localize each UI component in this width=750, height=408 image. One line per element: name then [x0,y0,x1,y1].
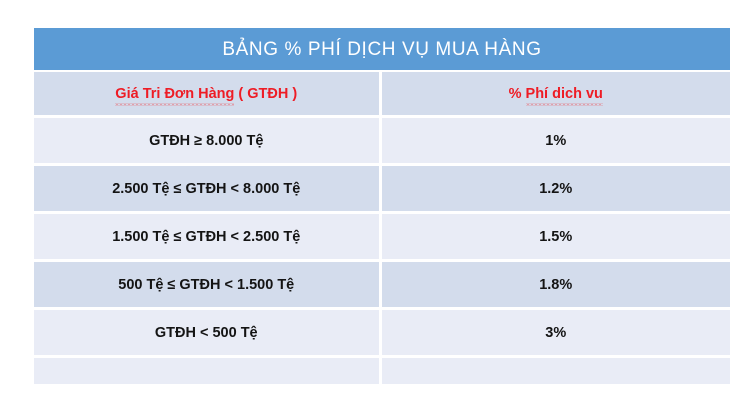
column-header-fee-percent: % Phí dich vu [380,72,730,117]
cell-fee-percent: 3% [380,309,730,357]
cell-fee-percent: 1.5% [380,213,730,261]
cell-order-range: GTĐH < 500 Tệ [34,309,380,357]
cell-order-range: 2.500 Tệ ≤ GTĐH < 8.000 Tệ [34,165,380,213]
table-footer-spacer-row [34,357,730,385]
column-header-fee-percent-text: Phí dich vu [526,86,603,102]
order-range-value: 2.500 Tệ ≤ GTĐH < 8.000 Tệ [112,181,300,197]
table-row: 1.500 Tệ ≤ GTĐH < 2.500 Tệ 1.5% [34,213,730,261]
column-header-fee-percent-label: % Phí dich vu [509,86,603,102]
fee-percent-value: 1.8% [539,277,572,293]
order-range-value: GTĐH ≥ 8.000 Tệ [149,133,263,149]
order-range-value: 1.500 Tệ ≤ GTĐH < 2.500 Tệ [112,229,300,245]
column-header-order-value-text: Giá Tri Đơn Hàng [115,86,234,102]
cell-spacer-left [34,357,380,385]
cell-fee-percent: 1.8% [380,261,730,309]
fee-percent-value: 1.5% [539,229,572,245]
slide-canvas: BẢNG % PHÍ DỊCH VỤ MUA HÀNG Giá Tri Đơn … [0,0,750,408]
cell-fee-percent: 1% [380,117,730,165]
column-header-order-value: Giá Tri Đơn Hàng ( GTĐH ) [34,72,380,117]
column-header-order-value-abbr: ( GTĐH ) [234,86,297,102]
table-row: 500 Tệ ≤ GTĐH < 1.500 Tệ 1.8% [34,261,730,309]
order-range-value: GTĐH < 500 Tệ [155,325,258,341]
table-row: GTĐH < 500 Tệ 3% [34,309,730,357]
table-row: GTĐH ≥ 8.000 Tệ 1% [34,117,730,165]
cell-order-range: 500 Tệ ≤ GTĐH < 1.500 Tệ [34,261,380,309]
fee-percent-value: 1.2% [539,181,572,197]
page-title: BẢNG % PHÍ DỊCH VỤ MUA HÀNG [222,40,541,59]
cell-order-range: GTĐH ≥ 8.000 Tệ [34,117,380,165]
table-header-row: Giá Tri Đơn Hàng ( GTĐH ) % Phí dich vu [34,72,730,117]
fee-table: Giá Tri Đơn Hàng ( GTĐH ) % Phí dich vu … [34,72,730,384]
order-range-value: 500 Tệ ≤ GTĐH < 1.500 Tệ [118,277,294,293]
column-header-order-value-label: Giá Tri Đơn Hàng ( GTĐH ) [115,86,297,102]
fee-percent-value: 1% [545,133,566,149]
table-row: 2.500 Tệ ≤ GTĐH < 8.000 Tệ 1.2% [34,165,730,213]
cell-order-range: 1.500 Tệ ≤ GTĐH < 2.500 Tệ [34,213,380,261]
cell-fee-percent: 1.2% [380,165,730,213]
title-banner: BẢNG % PHÍ DỊCH VỤ MUA HÀNG [34,28,730,70]
table-body: GTĐH ≥ 8.000 Tệ 1% 2.500 Tệ ≤ GTĐH < 8.0… [34,117,730,385]
column-header-fee-percent-symbol: % [509,86,526,102]
cell-spacer-right [380,357,730,385]
fee-percent-value: 3% [545,325,566,341]
